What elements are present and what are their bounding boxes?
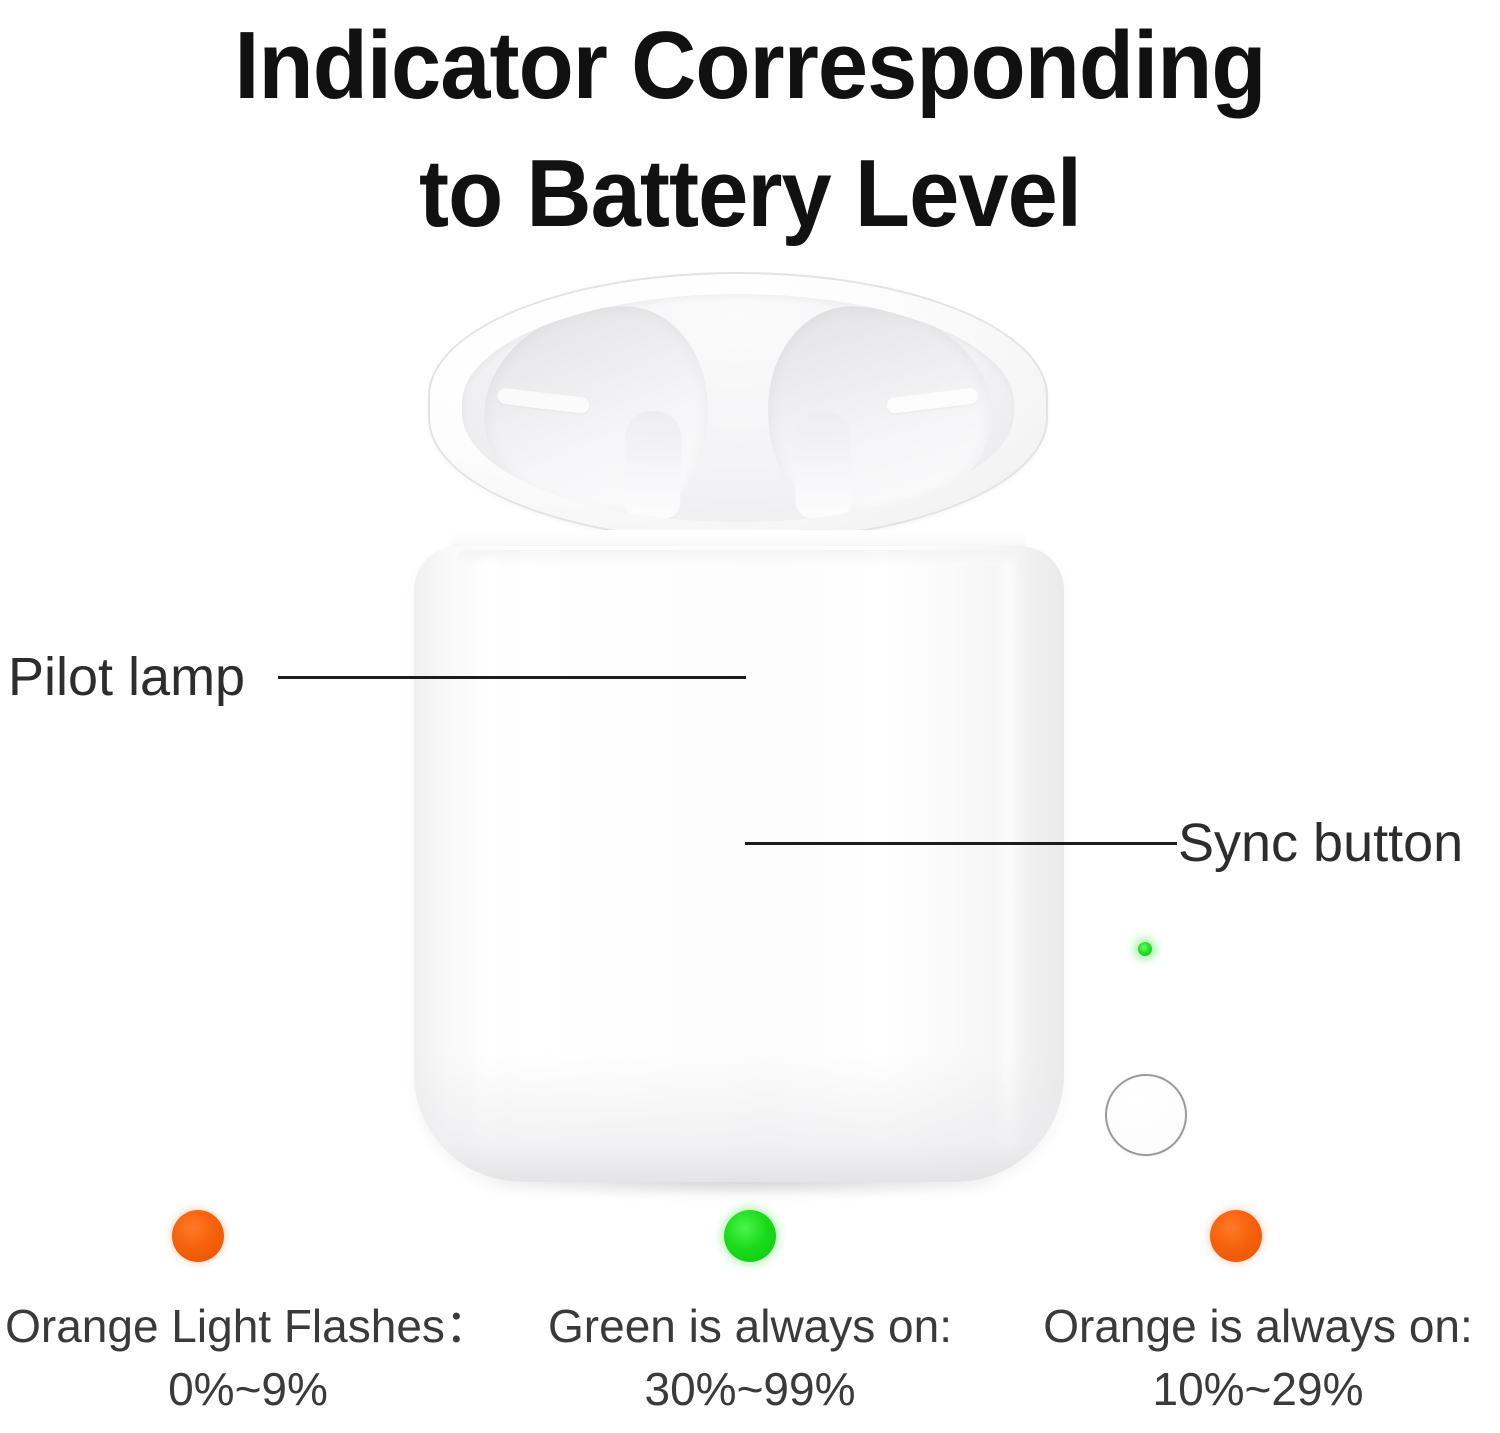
pilot-lamp-leader-line [278,676,746,679]
legend-caption: Orange Light Flashes： 0%~9% [5,1294,491,1420]
earbud-stem-right [794,411,852,520]
case-body [414,546,1064,1182]
green-led-dot-icon [724,1210,776,1262]
page-title: Indicator Corresponding to Battery Level [0,0,1500,258]
case-body-top-lip [458,550,1020,566]
page-title-line-1: Indicator Corresponding [45,2,1455,130]
case-lid-interior [462,294,1014,522]
legend-range-text: 10%~29% [1152,1358,1363,1420]
case-body-bottom-shading [414,1052,1064,1182]
earbud-stem-left [624,411,682,520]
legend-item-orange-solid: Orange is always on: 10%~29% [1000,1196,1500,1433]
sync-button-label: Sync button [1178,814,1463,872]
legend-state-text: Green is always on: [548,1294,952,1358]
legend-item-green-solid: Green is always on: 30%~99% [500,1196,1000,1433]
legend-state-text: Orange Light Flashes： [5,1294,491,1358]
earbud-notch-right [886,387,979,414]
legend-item-orange-flashing: Orange Light Flashes： 0%~9% [0,1196,500,1433]
earbud-well-left [479,302,713,519]
orange-led-dot-icon [172,1210,224,1262]
legend-caption: Orange is always on: 10%~29% [1043,1294,1473,1420]
legend-caption: Green is always on: 30%~99% [548,1294,952,1420]
pilot-lamp-led-icon [1138,942,1152,956]
case-lid [428,272,1048,542]
earbud-well-right [763,302,997,519]
legend-dot-row [1000,1196,1500,1270]
legend-dot-row [0,1196,500,1270]
airpods-case-illustration [400,272,1100,1202]
sync-button[interactable] [1105,1074,1187,1156]
orange-led-dot-icon [1210,1210,1262,1262]
legend-range-text: 0%~9% [168,1358,328,1420]
battery-level-legend: Orange Light Flashes： 0%~9% Green is alw… [0,1196,1500,1433]
legend-range-text: 30%~99% [645,1358,856,1420]
page-title-line-2: to Battery Level [45,130,1455,258]
sync-button-leader-line [745,842,1177,845]
pilot-lamp-label: Pilot lamp [8,648,245,706]
legend-dot-row [500,1196,1000,1270]
earbud-notch-left [497,387,590,414]
infographic-page: Indicator Corresponding to Battery Level [0,0,1500,1433]
legend-state-text: Orange is always on: [1043,1294,1473,1358]
